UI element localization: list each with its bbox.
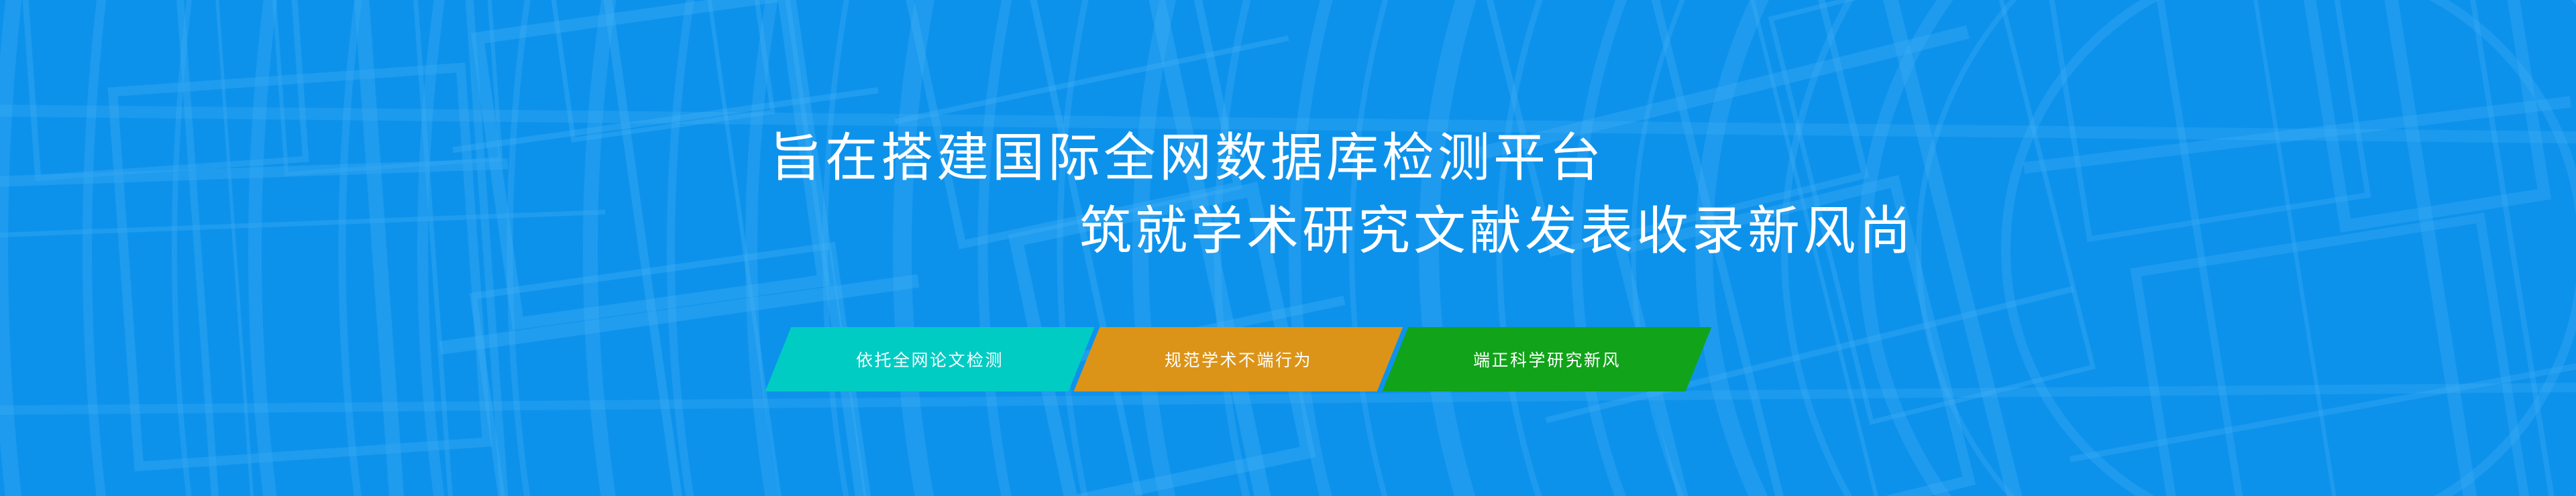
feature-tag-1-label: 依托全网论文检测 — [856, 347, 1004, 371]
feature-tag-2-label: 规范学术不端行为 — [1165, 347, 1312, 371]
headline-line-2: 筑就学术研究文献发表收录新风尚 — [1079, 204, 1915, 257]
feature-tag-strip: 依托全网论文检测 规范学术不端行为 端正科学研究新风 — [778, 327, 1699, 391]
feature-tag-3-label: 端正科学研究新风 — [1473, 347, 1621, 371]
promo-banner: 旨在搭建国际全网数据库检测平台 筑就学术研究文献发表收录新风尚 依托全网论文检测… — [0, 0, 2576, 496]
feature-tag-2[interactable]: 规范学术不端行为 — [1087, 327, 1390, 391]
headline-block: 旨在搭建国际全网数据库检测平台 筑就学术研究文献发表收录新风尚 — [0, 0, 2576, 496]
feature-tag-1[interactable]: 依托全网论文检测 — [778, 327, 1081, 391]
headline-line-1: 旨在搭建国际全网数据库检测平台 — [769, 131, 1605, 184]
feature-tag-3[interactable]: 端正科学研究新风 — [1395, 327, 1699, 391]
